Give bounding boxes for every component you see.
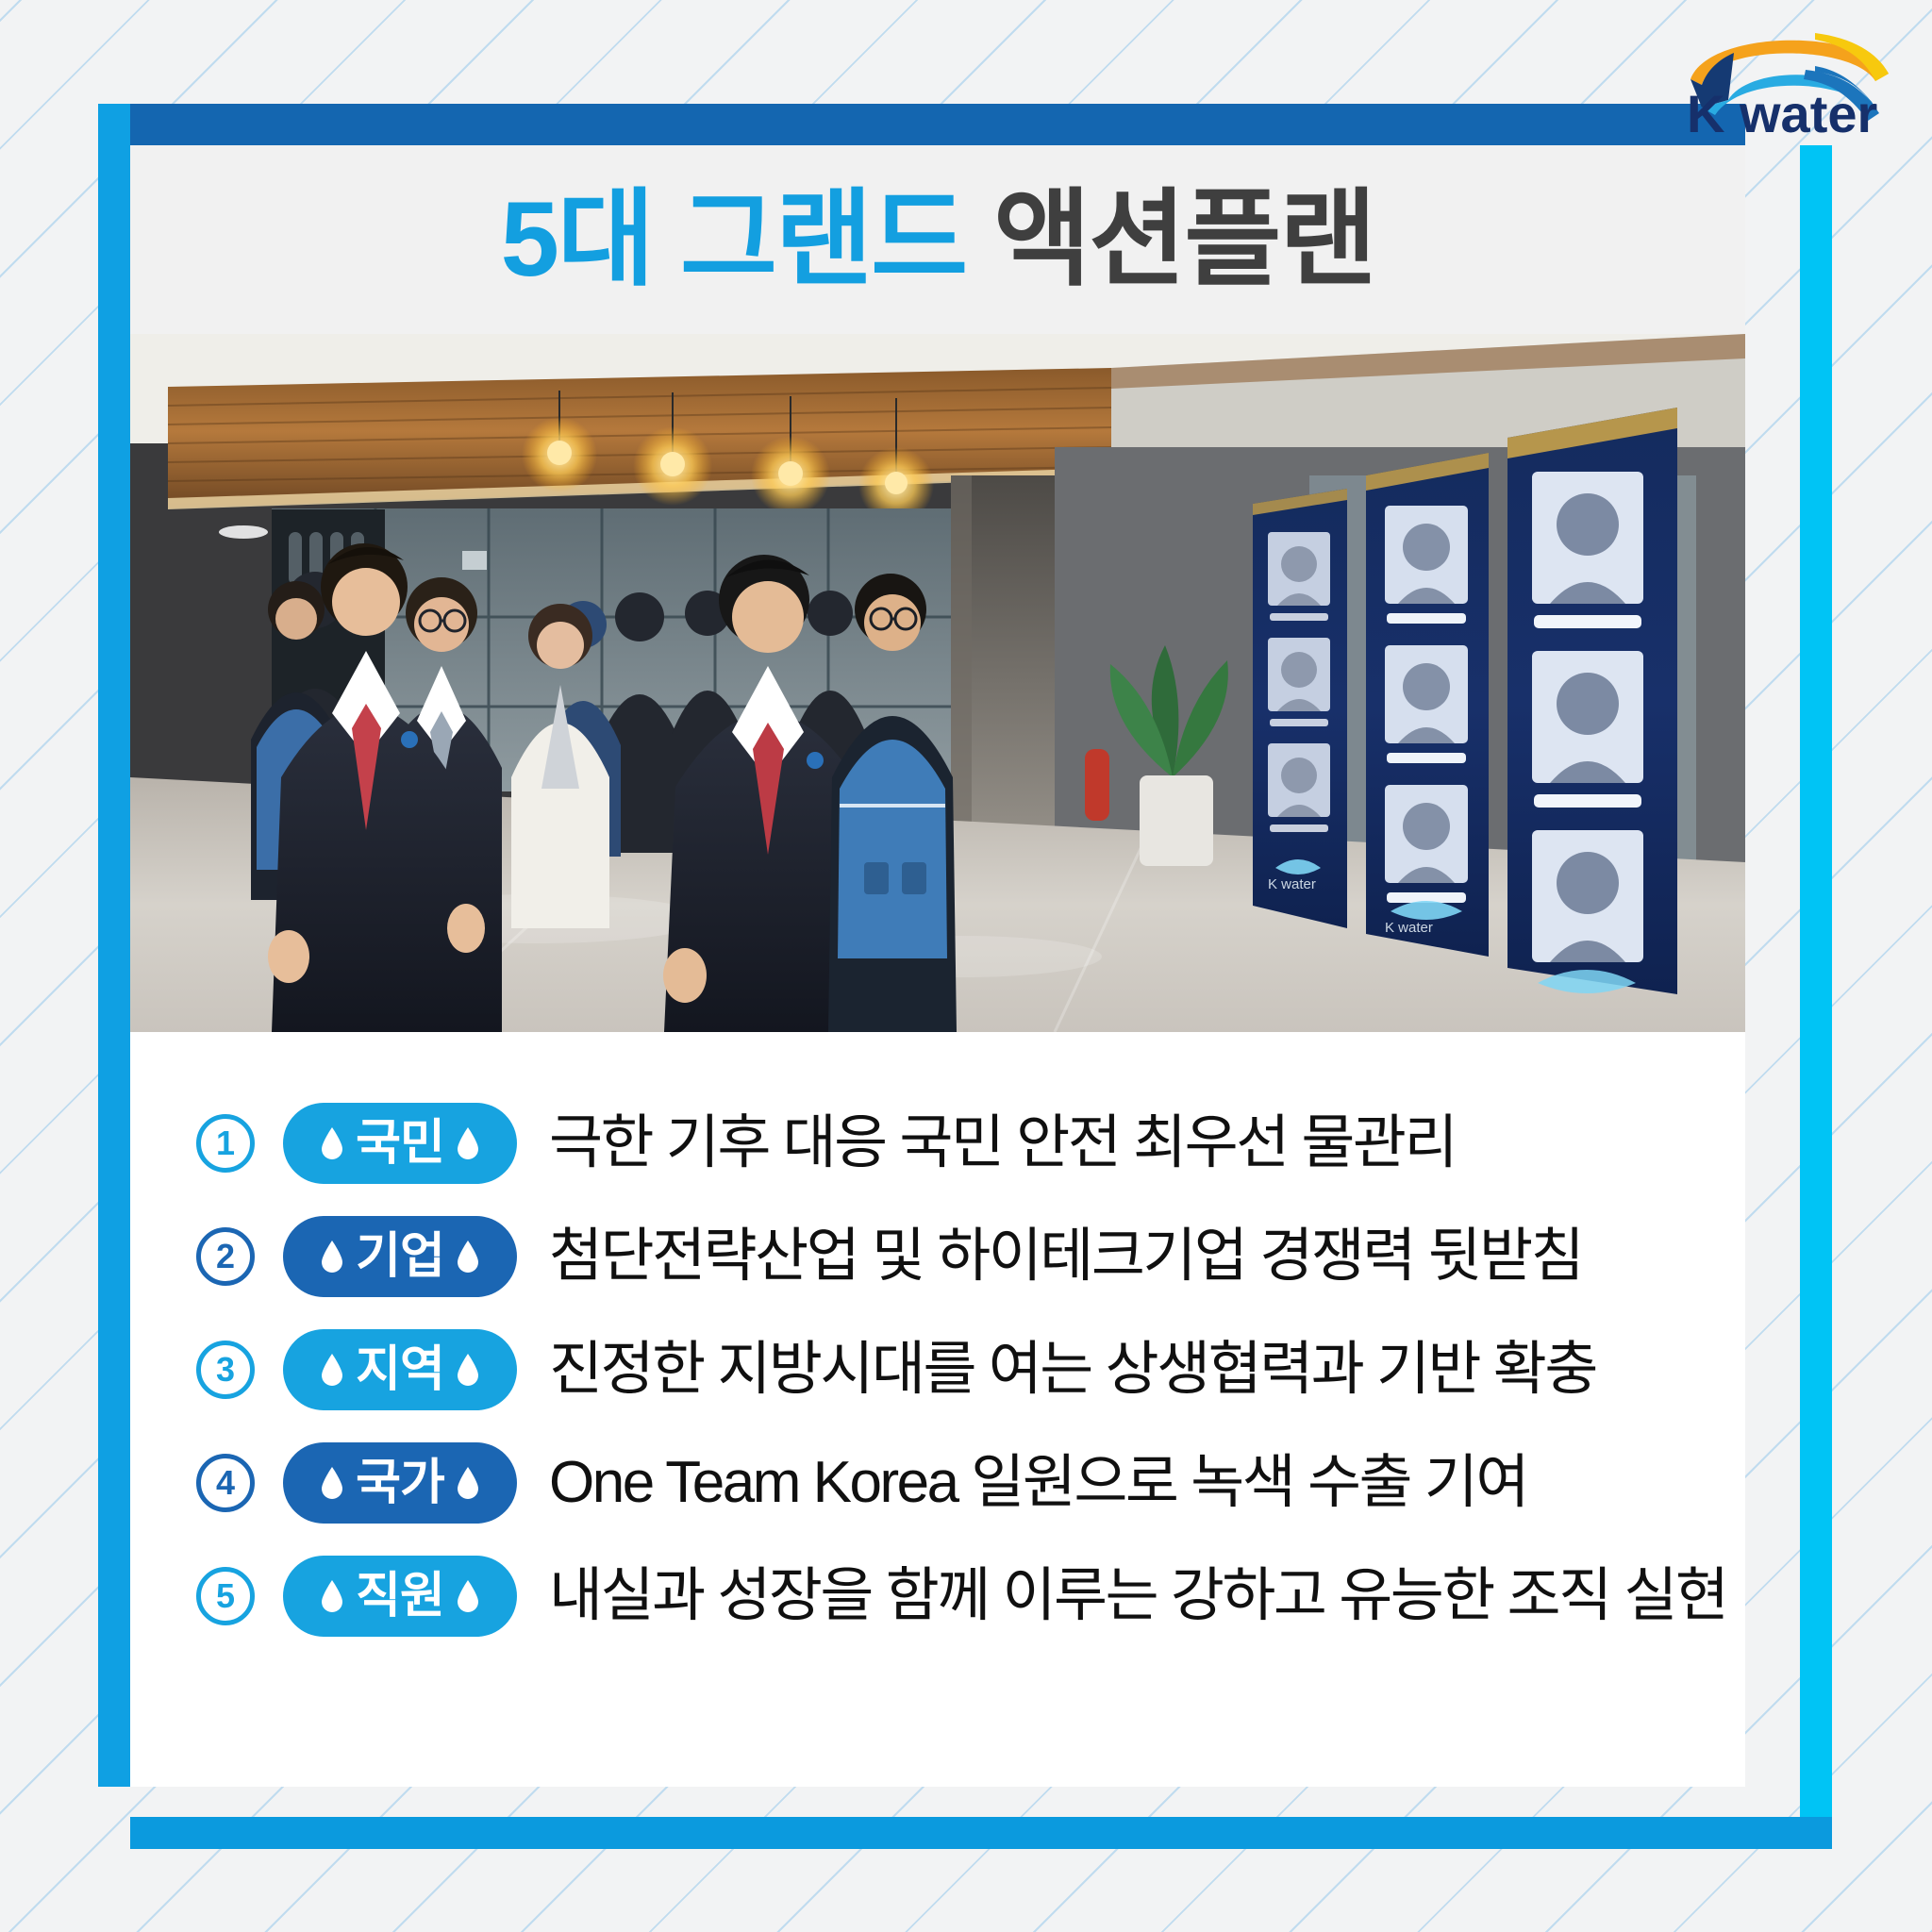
title-band: 5대 그랜드 액션플랜	[130, 145, 1745, 334]
water-drop-icon	[320, 1127, 344, 1159]
water-drop-icon	[320, 1241, 344, 1273]
item-tag-2[interactable]: 기업	[283, 1216, 517, 1297]
list-item[interactable]: 1 국민 극한 기후 대응 국민 안전 최우선 물관리	[196, 1087, 1745, 1200]
water-drop-icon	[320, 1354, 344, 1386]
item-text-4: One Team Korea 일원으로 녹색 수출 기여	[549, 1454, 1527, 1512]
water-drop-icon	[456, 1241, 480, 1273]
title-highlight: 5대 그랜드	[501, 180, 967, 298]
item-text-1: 극한 기후 대응 국민 안전 최우선 물관리	[549, 1114, 1456, 1173]
hero-photo: K water K water	[130, 334, 1745, 1032]
item-number-4: 4	[196, 1454, 255, 1512]
list-item[interactable]: 5 직원 내실과 성장을 함께 이루는 강하고 유능한 조직 실현	[196, 1540, 1745, 1653]
item-tag-label-1: 국민	[356, 1119, 444, 1168]
frame-right-bar	[1800, 145, 1832, 1817]
frame-top-bar	[128, 104, 1745, 145]
item-number-label-3: 3	[216, 1350, 235, 1390]
water-drop-icon	[456, 1354, 480, 1386]
water-drop-icon	[320, 1467, 344, 1499]
item-tag-label-2: 기업	[356, 1232, 444, 1281]
water-drop-icon	[456, 1467, 480, 1499]
frame-left-bar	[98, 104, 130, 1787]
title-rest: 액션플랜	[993, 180, 1374, 298]
item-number-label-1: 1	[216, 1124, 235, 1163]
water-drop-icon	[456, 1580, 480, 1612]
kwater-wordmark-k: K water	[1687, 84, 1877, 138]
item-tag-label-3: 지역	[356, 1345, 444, 1394]
item-number-label-5: 5	[216, 1576, 235, 1616]
item-number-label-2: 2	[216, 1237, 235, 1276]
item-number-2: 2	[196, 1227, 255, 1286]
item-tag-label-5: 직원	[356, 1572, 444, 1621]
item-tag-3[interactable]: 지역	[283, 1329, 517, 1410]
item-number-5: 5	[196, 1567, 255, 1625]
list-item[interactable]: 4 국가 One Team Korea 일원으로 녹색 수출 기여	[196, 1426, 1745, 1540]
item-tag-5[interactable]: 직원	[283, 1556, 517, 1637]
item-text-3: 진정한 지방시대를 여는 상생협력과 기반 확충	[549, 1341, 1596, 1399]
item-number-label-4: 4	[216, 1463, 235, 1503]
svg-text:K water: K water	[1385, 920, 1433, 936]
water-drop-icon	[320, 1580, 344, 1612]
list-item[interactable]: 2 기업 첨단전략산업 및 하이테크기업 경쟁력 뒷받침	[196, 1200, 1745, 1313]
water-drop-icon	[456, 1127, 480, 1159]
hero-photo-illustration: K water K water	[130, 334, 1745, 1032]
kwater-logo: K water	[1674, 21, 1900, 138]
frame-bottom-bar	[130, 1817, 1832, 1849]
action-plan-list: 1 국민 극한 기후 대응 국민 안전 최우선 물관리 2	[130, 1032, 1745, 1653]
item-text-2: 첨단전략산업 및 하이테크기업 경쟁력 뒷받침	[549, 1227, 1582, 1286]
item-tag-1[interactable]: 국민	[283, 1103, 517, 1184]
item-tag-label-4: 국가	[356, 1458, 444, 1507]
svg-text:K water: K water	[1268, 876, 1316, 892]
page-title: 5대 그랜드 액션플랜	[501, 187, 1375, 292]
poster-card: 5대 그랜드 액션플랜	[98, 104, 1832, 1849]
item-number-1: 1	[196, 1114, 255, 1173]
item-tag-4[interactable]: 국가	[283, 1442, 517, 1524]
list-item[interactable]: 3 지역 진정한 지방시대를 여는 상생협력과 기반 확충	[196, 1313, 1745, 1426]
item-number-3: 3	[196, 1341, 255, 1399]
poster-page: 5대 그랜드 액션플랜	[130, 145, 1745, 1787]
item-text-5: 내실과 성장을 함께 이루는 강하고 유능한 조직 실현	[549, 1567, 1726, 1625]
